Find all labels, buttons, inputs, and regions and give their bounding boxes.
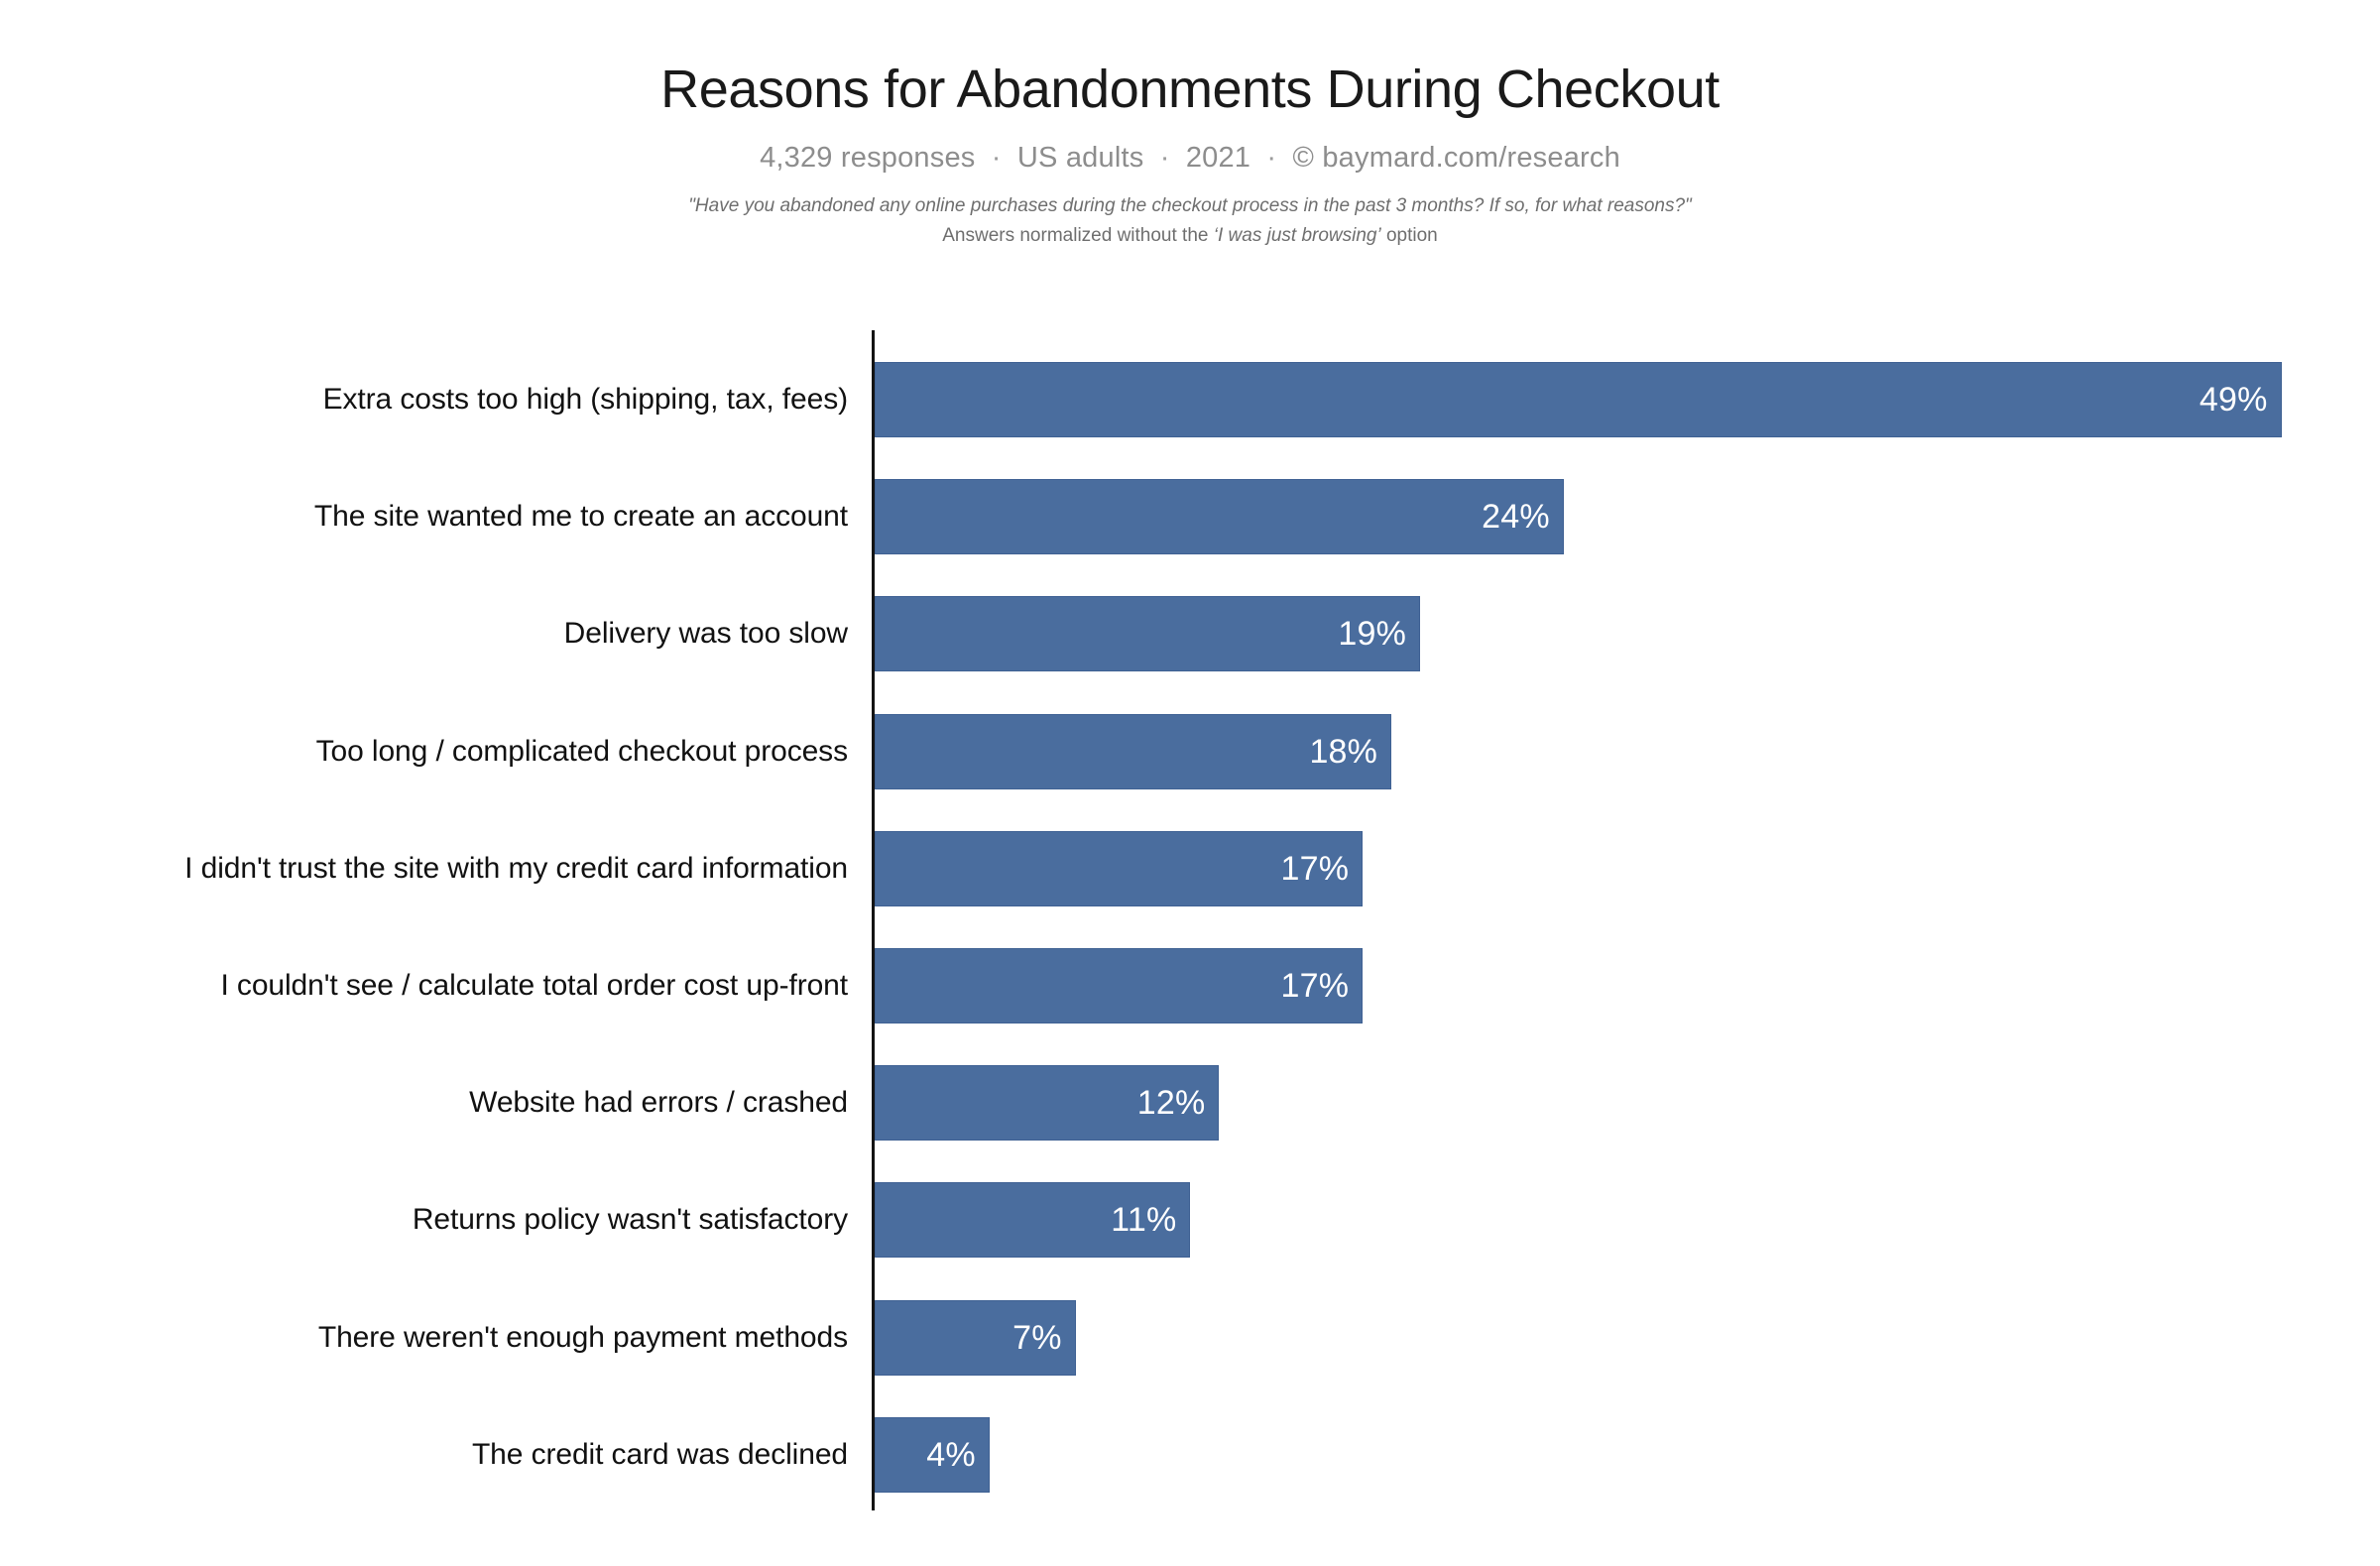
bar-row: Returns policy wasn't satisfactory11% (0, 1182, 2380, 1258)
bar-row: Extra costs too high (shipping, tax, fee… (0, 362, 2380, 437)
bar-row: The site wanted me to create an account2… (0, 479, 2380, 554)
bar-row: I couldn't see / calculate total order c… (0, 948, 2380, 1024)
category-label: The credit card was declined (472, 1417, 848, 1493)
bar-row: There weren't enough payment methods7% (0, 1300, 2380, 1376)
bar-value-label: 19% (1338, 596, 1406, 671)
bar-row: I didn't trust the site with my credit c… (0, 831, 2380, 906)
category-label: Returns policy wasn't satisfactory (413, 1182, 848, 1258)
plot-area: Extra costs too high (shipping, tax, fee… (0, 0, 2380, 1566)
category-label: The site wanted me to create an account (314, 479, 848, 554)
category-label: Delivery was too slow (564, 596, 848, 671)
category-label: Extra costs too high (shipping, tax, fee… (323, 362, 848, 437)
bar-value-label: 17% (1280, 831, 1349, 906)
bar-value-label: 24% (1482, 479, 1550, 554)
bar-row: Too long / complicated checkout process1… (0, 714, 2380, 789)
category-label: I didn't trust the site with my credit c… (184, 831, 848, 906)
bar-value-label: 49% (2200, 362, 2268, 437)
category-label: Too long / complicated checkout process (316, 714, 848, 789)
bar-value-label: 12% (1137, 1065, 1206, 1141)
bar-value-label: 18% (1309, 714, 1377, 789)
category-label: Website had errors / crashed (469, 1065, 848, 1141)
bar-value-label: 11% (1111, 1182, 1176, 1258)
bar (875, 479, 1564, 554)
bar (875, 362, 2282, 437)
bar-value-label: 4% (926, 1417, 976, 1493)
bar-row: Delivery was too slow19% (0, 596, 2380, 671)
bar-value-label: 7% (1012, 1300, 1062, 1376)
bar-row: The credit card was declined4% (0, 1417, 2380, 1493)
category-label: I couldn't see / calculate total order c… (220, 948, 848, 1024)
category-label: There weren't enough payment methods (318, 1300, 848, 1376)
chart-container: Reasons for Abandonments During Checkout… (0, 0, 2380, 1566)
bar-row: Website had errors / crashed12% (0, 1065, 2380, 1141)
bar-value-label: 17% (1280, 948, 1349, 1024)
